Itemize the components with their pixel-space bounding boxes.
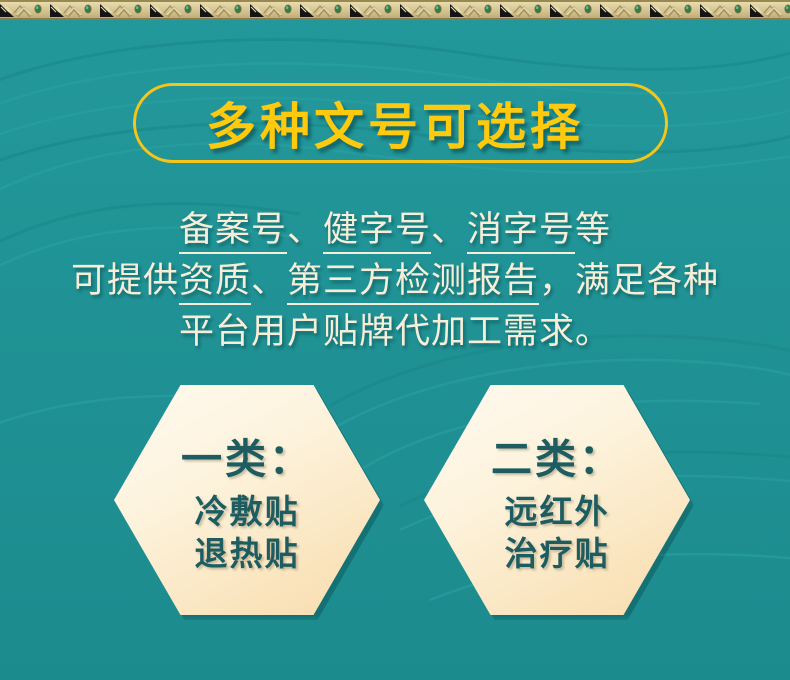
page-title: 多种文号可选择 [0,82,790,164]
category-1-title: 一类： [181,425,313,485]
plain-text: ，满足各种 [539,261,719,301]
underlined-term: 消字号 [467,210,575,254]
plain-text: 平台用户贴牌代加工需求。 [179,312,611,352]
description-line-1: 备案号、健字号、消字号等 [0,205,790,256]
category-2-title: 二类： [491,425,623,485]
category-1-item-1: 冷敷贴 [195,491,300,533]
description-block: 备案号、健字号、消字号等 可提供资质、第三方检测报告，满足各种 平台用户贴牌代加… [0,205,790,358]
underlined-term: 备案号 [179,210,287,254]
category-2-item-2: 治疗贴 [505,533,610,575]
egyptian-chevron-border-icon [0,0,790,20]
underlined-term: 第三方检测报告 [287,261,539,305]
plain-text: 、 [251,261,287,301]
description-line-2: 可提供资质、第三方检测报告，满足各种 [0,256,790,307]
plain-text: 可提供 [71,261,179,301]
promo-banner: 多种文号可选择 备案号、健字号、消字号等 可提供资质、第三方检测报告，满足各种 … [0,0,790,680]
description-line-3: 平台用户贴牌代加工需求。 [0,307,790,358]
plain-text: 等 [575,210,611,250]
category-2-item-1: 远红外 [505,491,610,533]
category-1-item-2: 退热贴 [195,533,300,575]
underlined-term: 健字号 [323,210,431,254]
underlined-term: 资质 [179,261,251,305]
plain-text: 、 [287,210,323,250]
plain-text: 、 [431,210,467,250]
